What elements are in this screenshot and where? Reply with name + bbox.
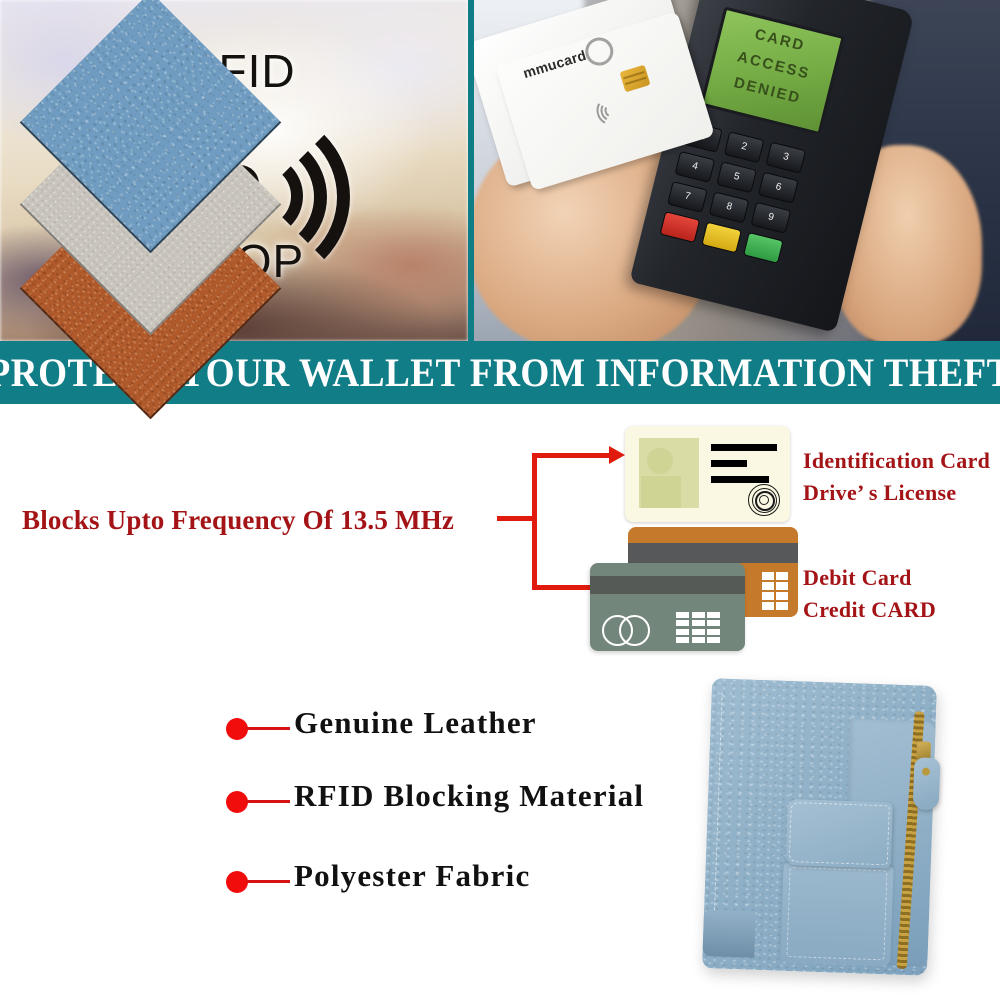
payment-terminal-photo: CARD ACCESS DENIED 1 2 3 4 5 6 (474, 0, 1000, 341)
card-ring-icon (580, 32, 619, 71)
id-text-line (711, 444, 777, 451)
callout-line (246, 800, 290, 803)
wallet-product-photo (672, 660, 1000, 1000)
terminal-screen: CARD ACCESS DENIED (700, 6, 845, 135)
id-label-line-1: Identification Card (803, 448, 990, 474)
keypad-key: 3 (765, 142, 806, 174)
connector-stem (497, 516, 537, 521)
debit-card-label: Debit Card Credit CARD (803, 565, 936, 623)
keypad-key: 2 (724, 131, 765, 163)
connector-arm-top (532, 453, 612, 458)
debit-label-line-2: Credit CARD (803, 597, 936, 623)
identification-card-label: Identification Card Drive’ s License (803, 448, 990, 506)
keypad-key: 7 (667, 181, 708, 213)
id-portrait-head (647, 448, 673, 474)
keypad-key: 6 (758, 172, 799, 204)
wallet-zipper-pull-tab (913, 757, 941, 810)
wallet-lower-flap (780, 863, 893, 967)
layer-label: Genuine Leather (294, 705, 537, 741)
layer-label: RFID Blocking Material (294, 778, 644, 814)
card-logo-circles-icon (602, 615, 652, 643)
cancel-key (660, 211, 701, 243)
wallet-snap-strap (786, 799, 893, 869)
magnetic-stripe (628, 543, 798, 563)
wallet-spine (702, 910, 756, 958)
callout-dot-icon (226, 791, 248, 813)
enter-key (743, 232, 784, 264)
id-text-line (711, 460, 747, 467)
product-infographic: RFID STOP CARD ACCESS D (0, 0, 1000, 1000)
clear-key (701, 221, 742, 253)
id-portrait-body (641, 476, 681, 508)
card-grid-icon (762, 572, 788, 610)
id-nfc-icon (748, 484, 778, 514)
card-grid-icon (676, 612, 720, 644)
identification-card-graphic (625, 426, 790, 522)
debit-card-graphic-green (590, 563, 745, 651)
keypad-key: 8 (709, 191, 750, 223)
callout-dot-icon (226, 871, 248, 893)
id-label-line-2: Drive’ s License (803, 480, 990, 506)
arrow-head-top-icon (609, 446, 625, 464)
frequency-label: Blocks Upto Frequency Of 13.5 MHz (22, 505, 454, 536)
callout-line (246, 727, 290, 730)
magnetic-stripe (590, 576, 745, 594)
keypad-key: 4 (675, 151, 716, 183)
callout-line (246, 880, 290, 883)
layer-label: Polyester Fabric (294, 858, 530, 894)
keypad-key: 5 (716, 161, 757, 193)
callout-dot-icon (226, 718, 248, 740)
keypad-key: 9 (750, 202, 791, 234)
debit-label-line-1: Debit Card (803, 565, 936, 591)
connector-vertical (532, 453, 537, 590)
id-text-line (711, 476, 769, 483)
wallet-body (702, 678, 937, 976)
